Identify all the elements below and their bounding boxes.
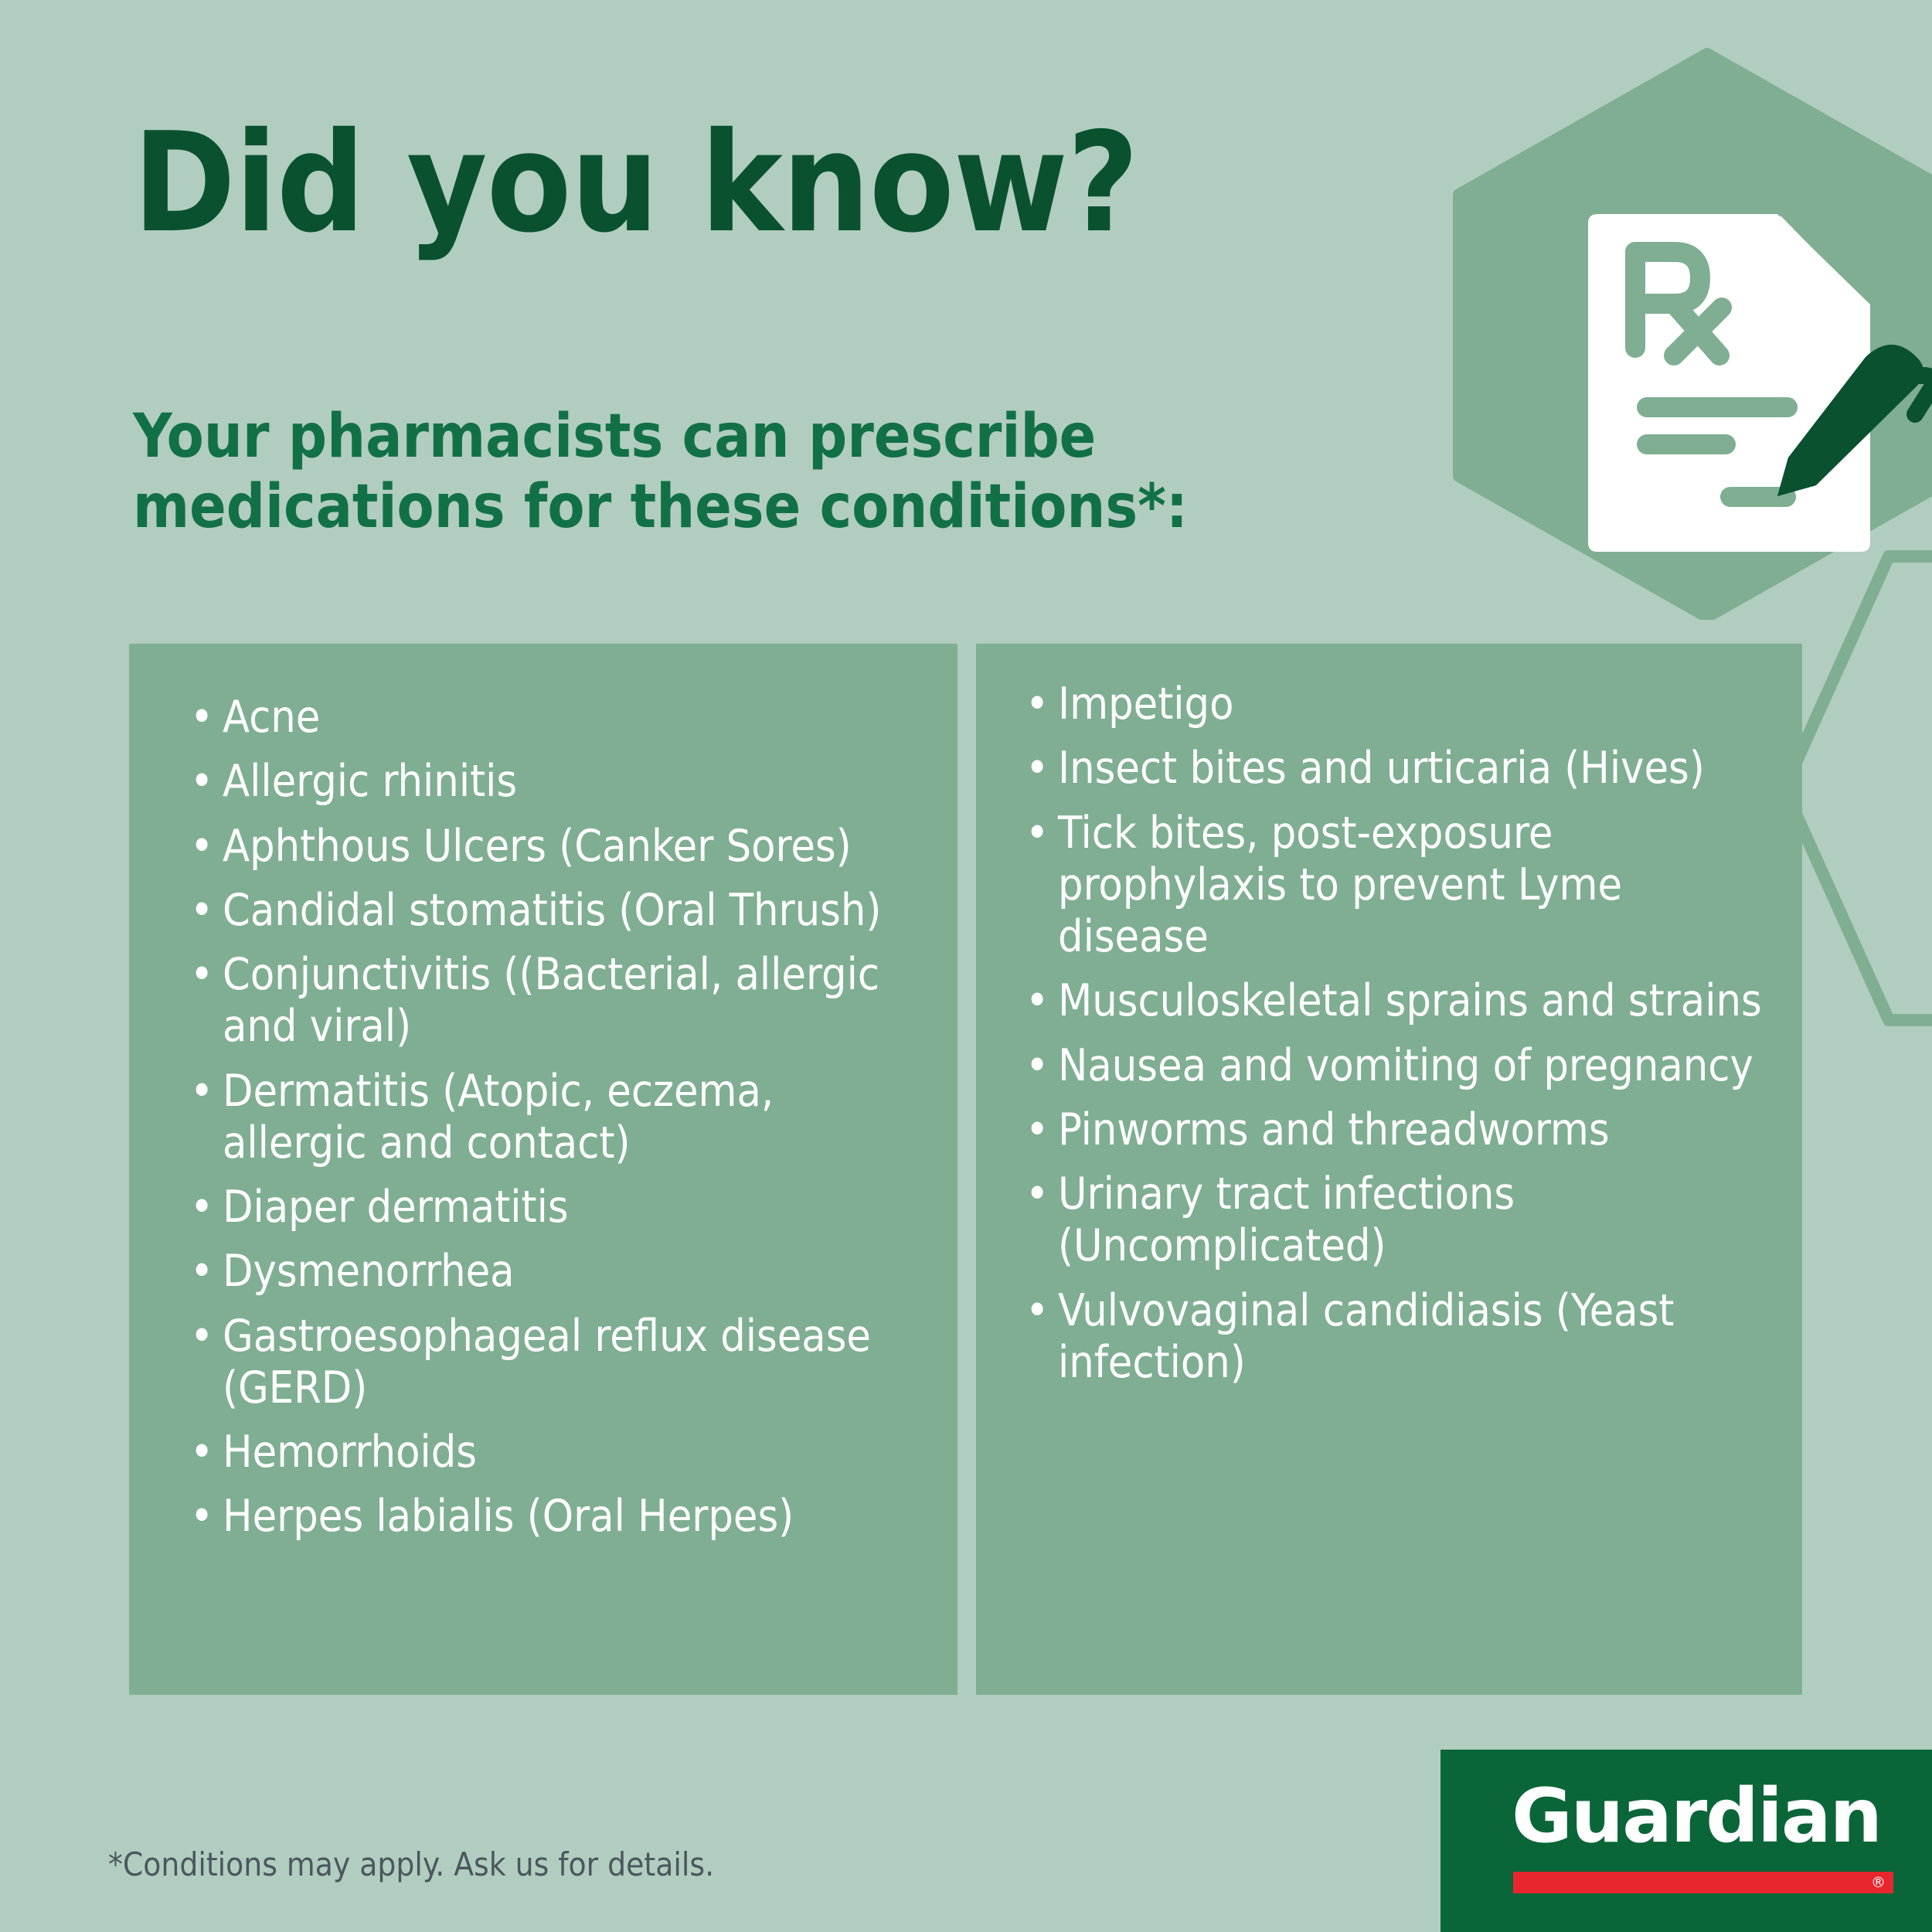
condition-list-item: Candidal stomatitis (Oral Thrush) bbox=[187, 885, 929, 937]
condition-list-item: Impetigo bbox=[1022, 679, 1780, 730]
infographic-poster: Did you know? Your pharmacists can presc… bbox=[0, 0, 1932, 1932]
condition-list-item: Tick bites, post-exposure prophylaxis to… bbox=[1022, 808, 1780, 964]
conditions-panel-right: ImpetigoInsect bites and urticaria (Hive… bbox=[976, 644, 1802, 1695]
condition-list-item: Dysmenorrhea bbox=[187, 1246, 929, 1298]
condition-list-item: Pinworms and threadworms bbox=[1022, 1104, 1780, 1156]
condition-list-item: Diaper dermatitis bbox=[187, 1182, 929, 1233]
condition-list-item: Acne bbox=[187, 692, 929, 743]
conditions-list-left: AcneAllergic rhinitisAphthous Ulcers (Ca… bbox=[187, 692, 929, 1556]
condition-list-item: Aphthous Ulcers (Canker Sores) bbox=[187, 821, 929, 872]
condition-list-item: Urinary tract infections (Uncomplicated) bbox=[1022, 1168, 1780, 1273]
condition-list-item: Nausea and vomiting of pregnancy bbox=[1022, 1040, 1780, 1092]
condition-list-item: Conjunctivitis ((Bacterial, allergic and… bbox=[187, 949, 929, 1053]
condition-list-item: Dermatitis (Atopic, eczema, allergic and… bbox=[187, 1066, 929, 1170]
condition-list-item: Vulvovaginal candidiasis (Yeast infectio… bbox=[1022, 1285, 1780, 1389]
registered-trademark-mark: ® bbox=[1871, 1872, 1886, 1893]
conditions-panel-left: AcneAllergic rhinitisAphthous Ulcers (Ca… bbox=[129, 644, 957, 1695]
condition-list-item: Gastroesophageal reflux disease (GERD) bbox=[187, 1311, 929, 1415]
condition-list-item: Musculoskeletal sprains and strains bbox=[1022, 975, 1780, 1027]
condition-list-item: Hemorrhoids bbox=[187, 1427, 929, 1478]
document-line-1 bbox=[1637, 397, 1798, 417]
guardian-logo: Guardian ® bbox=[1440, 1750, 1932, 1932]
guardian-wordmark: Guardian bbox=[1512, 1779, 1881, 1853]
document-line-2 bbox=[1637, 434, 1736, 454]
conditions-list-right: ImpetigoInsect bites and urticaria (Hive… bbox=[1022, 679, 1780, 1401]
page-title: Did you know? bbox=[133, 114, 1138, 252]
guardian-red-bar: ® bbox=[1513, 1872, 1893, 1893]
footnote-disclaimer: *Conditions may apply. Ask us for detail… bbox=[108, 1845, 714, 1883]
page-subtitle: Your pharmacists can prescribe medicatio… bbox=[133, 402, 1292, 543]
condition-list-item: Allergic rhinitis bbox=[187, 756, 929, 808]
condition-list-item: Herpes labialis (Oral Herpes) bbox=[187, 1491, 929, 1543]
hexagon-rx-badge bbox=[1453, 48, 1932, 620]
subtitle-line-1: Your pharmacists can prescribe bbox=[133, 402, 1292, 472]
subtitle-line-2: medications for these conditions*: bbox=[133, 472, 1292, 543]
condition-list-item: Insect bites and urticaria (Hives) bbox=[1022, 743, 1780, 794]
